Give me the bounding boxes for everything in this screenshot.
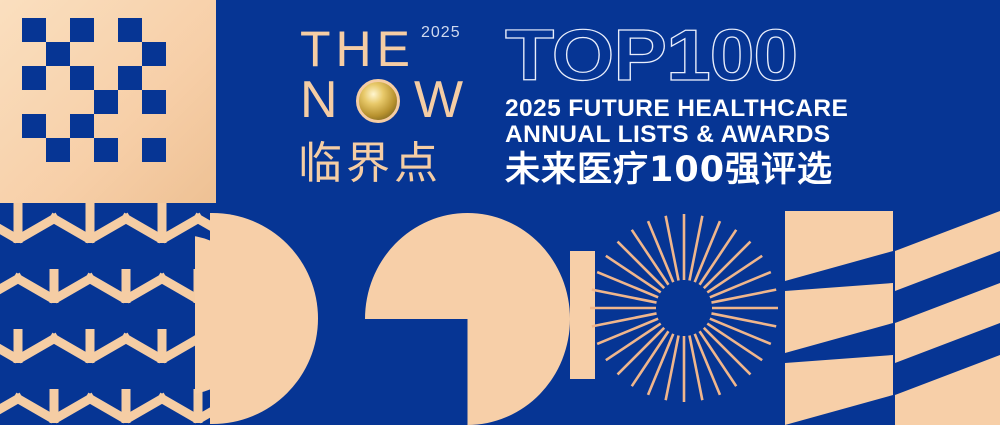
checker-cell-empty bbox=[70, 138, 94, 162]
subtitle-line-2: ANNUAL LISTS & AWARDS bbox=[505, 122, 845, 148]
hex-lattice-panel bbox=[0, 203, 216, 425]
checker-cell-empty bbox=[94, 162, 118, 186]
checker-cell-empty bbox=[94, 114, 118, 138]
diagonal-stripes-panel bbox=[785, 203, 1000, 425]
checkerboard-grid bbox=[22, 18, 190, 186]
checker-cell-empty bbox=[94, 18, 118, 42]
checker-cell-filled bbox=[46, 42, 70, 66]
the-now-logo: THE 2025 N W 临界点 bbox=[296, 22, 491, 192]
checker-cell-empty bbox=[142, 114, 166, 138]
checker-cell-empty bbox=[46, 114, 70, 138]
checker-cell-empty bbox=[166, 114, 190, 138]
circle-shapes-panel bbox=[195, 203, 595, 425]
checker-cell-filled bbox=[142, 90, 166, 114]
checker-cell-empty bbox=[22, 138, 46, 162]
checker-cell-empty bbox=[142, 18, 166, 42]
checker-cell-empty bbox=[70, 162, 94, 186]
checker-cell-filled bbox=[46, 138, 70, 162]
checker-cell-empty bbox=[70, 90, 94, 114]
checker-cell-empty bbox=[118, 138, 142, 162]
checker-cell-filled bbox=[118, 66, 142, 90]
checker-cell-filled bbox=[22, 66, 46, 90]
checker-cell-filled bbox=[70, 114, 94, 138]
logo-letter-n: N bbox=[300, 74, 338, 126]
checker-cell-empty bbox=[118, 114, 142, 138]
checker-cell-empty bbox=[118, 42, 142, 66]
checker-cell-empty bbox=[94, 66, 118, 90]
sunburst-ray bbox=[618, 328, 665, 375]
logo-letter-w: W bbox=[414, 74, 463, 126]
sunburst-ray bbox=[618, 242, 665, 289]
checker-cell-empty bbox=[22, 42, 46, 66]
checker-cell-empty bbox=[142, 162, 166, 186]
sunburst-graphic bbox=[588, 212, 780, 404]
checker-cell-filled bbox=[142, 42, 166, 66]
checker-cell-empty bbox=[166, 66, 190, 90]
sunburst-ray bbox=[704, 242, 751, 289]
sunburst-ray bbox=[704, 328, 751, 375]
subtitle-chinese: 未来医疗100强评选 bbox=[505, 151, 845, 190]
checker-cell-empty bbox=[166, 90, 190, 114]
checker-cell-empty bbox=[166, 162, 190, 186]
logo-chinese-text: 临界点 bbox=[298, 142, 442, 186]
logo-now-row: N W bbox=[296, 74, 491, 132]
checker-cell-empty bbox=[118, 90, 142, 114]
checker-cell-empty bbox=[46, 66, 70, 90]
checker-cell-empty bbox=[46, 162, 70, 186]
checker-cell-filled bbox=[22, 18, 46, 42]
notched-circle bbox=[365, 213, 570, 425]
logo-the-text: THE bbox=[300, 24, 415, 74]
title-block: TOP100 2025 FUTURE HEALTHCARE ANNUAL LIS… bbox=[505, 22, 845, 189]
checker-cell-filled bbox=[70, 66, 94, 90]
logo-year-text: 2025 bbox=[421, 24, 461, 42]
checkerboard-panel bbox=[0, 0, 216, 203]
logo-first-row: THE 2025 bbox=[296, 22, 491, 78]
half-disc-large bbox=[210, 213, 318, 424]
top100-headline: TOP100 bbox=[505, 22, 886, 90]
checker-cell-empty bbox=[46, 90, 70, 114]
checker-cell-empty bbox=[166, 138, 190, 162]
checker-cell-empty bbox=[22, 162, 46, 186]
checker-cell-empty bbox=[22, 90, 46, 114]
checker-cell-empty bbox=[166, 42, 190, 66]
checker-cell-empty bbox=[94, 42, 118, 66]
subtitle-line-1: 2025 FUTURE HEALTHCARE bbox=[505, 96, 845, 122]
checker-cell-filled bbox=[118, 18, 142, 42]
checker-cell-empty bbox=[118, 162, 142, 186]
checker-cell-filled bbox=[22, 114, 46, 138]
checker-cell-filled bbox=[94, 90, 118, 114]
checker-cell-filled bbox=[70, 18, 94, 42]
checker-cell-filled bbox=[94, 138, 118, 162]
checker-cell-empty bbox=[166, 18, 190, 42]
checker-cell-filled bbox=[142, 138, 166, 162]
banner-root: THE 2025 N W 临界点 TOP100 2025 FUTURE HEAL… bbox=[0, 0, 1000, 425]
checker-cell-empty bbox=[70, 42, 94, 66]
checker-cell-empty bbox=[46, 18, 70, 42]
checker-cell-empty bbox=[142, 66, 166, 90]
gold-sphere-icon bbox=[356, 79, 400, 123]
